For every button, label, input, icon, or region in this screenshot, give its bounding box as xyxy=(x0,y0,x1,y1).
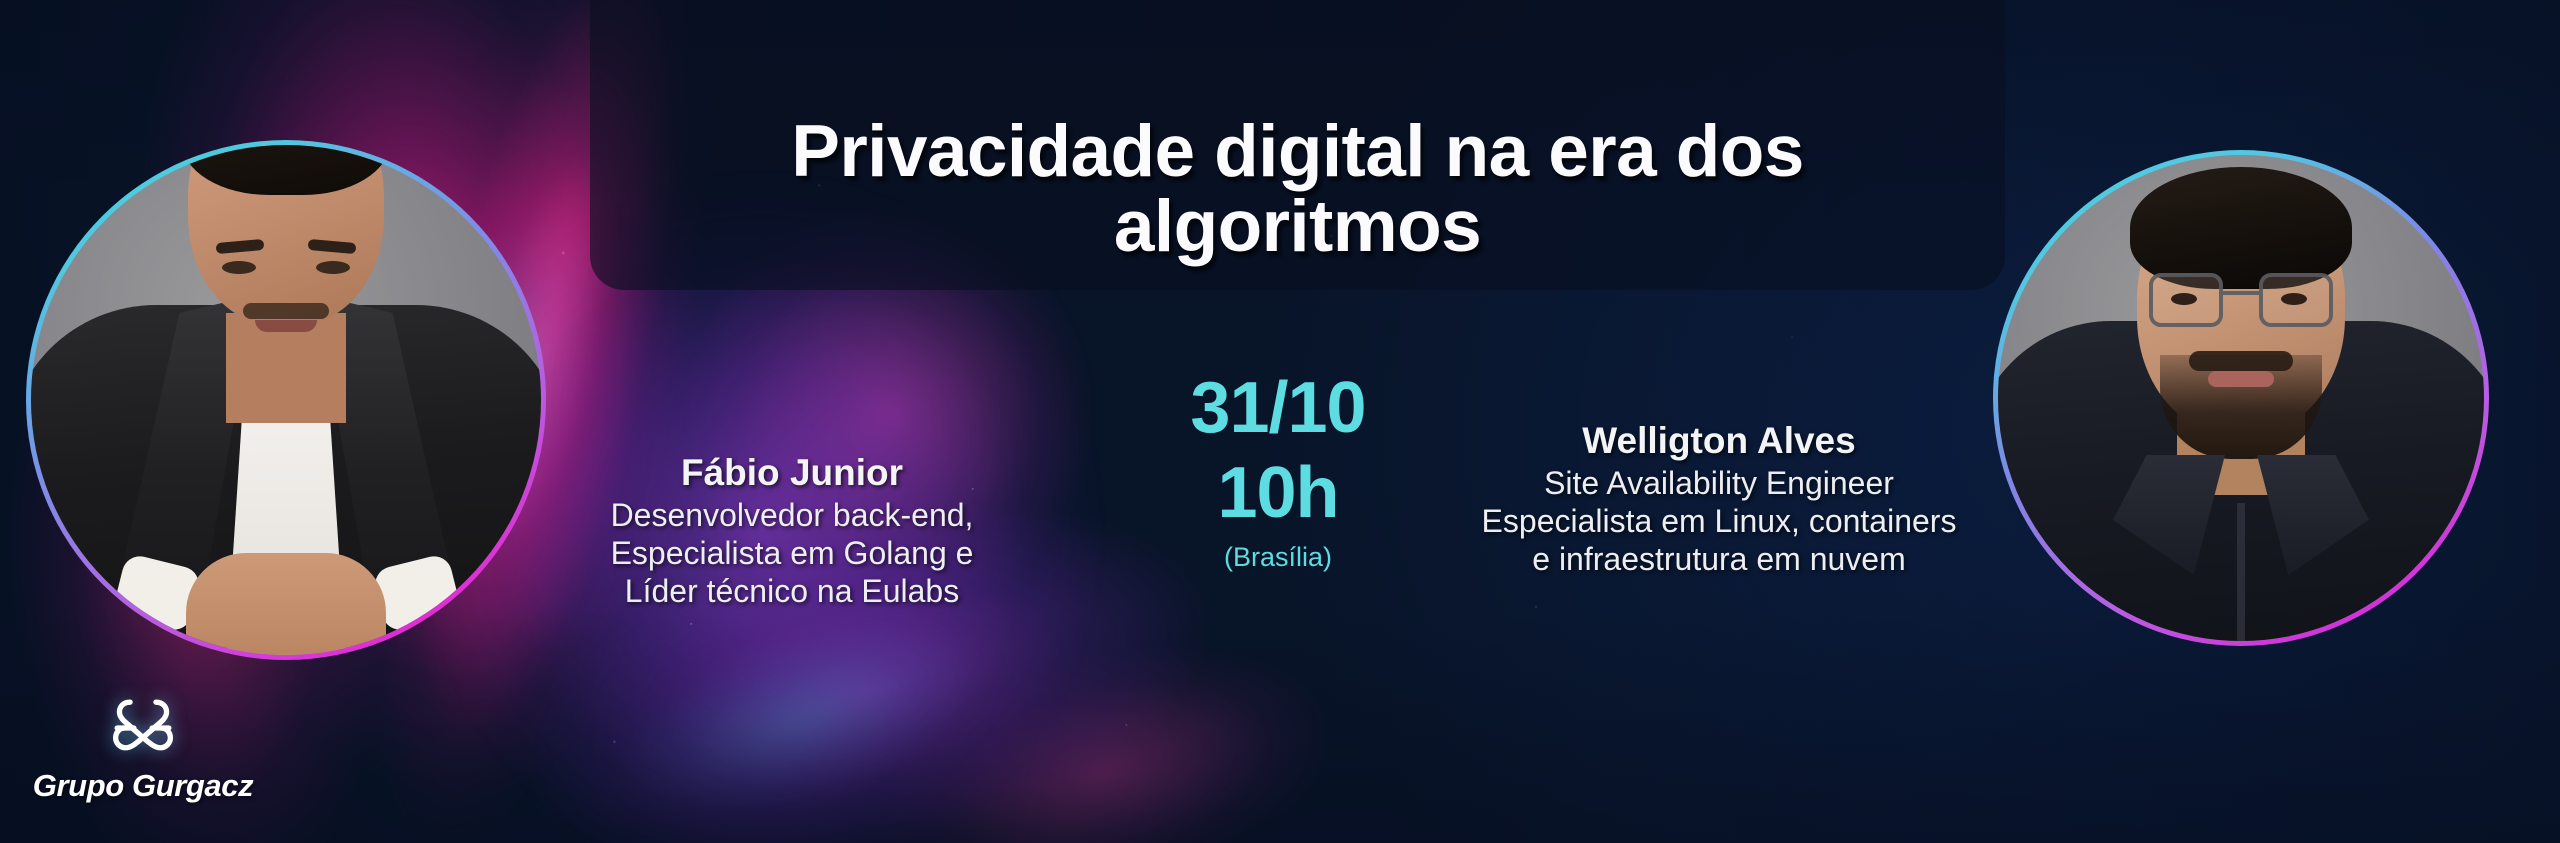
speaker-info-right: Welligton Alves Site Availability Engine… xyxy=(1474,420,1964,579)
portrait-right-eye-right xyxy=(2281,293,2307,305)
portrait-right-mouth xyxy=(2208,371,2274,387)
speaker-role: Site Availability Engineer Especialista … xyxy=(1474,465,1964,578)
portrait-right-eye-left xyxy=(2171,293,2197,305)
avatar xyxy=(31,145,541,655)
speaker-portrait-right xyxy=(1993,150,2489,646)
brand-logo: Grupo Gurgacz xyxy=(28,690,258,804)
brand-name: Grupo Gurgacz xyxy=(28,768,258,804)
portrait-left-eye-right xyxy=(316,261,350,274)
speaker-name: Welligton Alves xyxy=(1474,420,1964,461)
portrait-left-hands xyxy=(186,553,386,655)
speaker-role: Desenvolvedor back-end, Especialista em … xyxy=(572,497,1012,610)
portrait-left-mustache xyxy=(243,303,329,319)
portrait-right-glasses-bridge xyxy=(2223,291,2259,295)
speaker-portrait-left xyxy=(26,140,546,660)
portrait-left-mouth xyxy=(255,320,317,332)
event-date: 31/10 xyxy=(1128,372,1428,445)
portrait-left-eye-left xyxy=(222,261,256,274)
event-banner: Privacidade digital na era dos algoritmo… xyxy=(0,0,2560,843)
speaker-name: Fábio Junior xyxy=(572,452,1012,493)
page-title: Privacidade digital na era dos algoritmo… xyxy=(668,114,1928,264)
avatar xyxy=(1998,155,2484,641)
speaker-info-left: Fábio Junior Desenvolvedor back-end, Esp… xyxy=(572,452,1012,611)
event-time: 10h xyxy=(1128,457,1428,530)
gurgacz-knot-icon xyxy=(105,690,181,766)
title-panel: Privacidade digital na era dos algoritmo… xyxy=(590,0,2005,290)
event-date-block: 31/10 10h (Brasília) xyxy=(1128,372,1428,573)
portrait-right-mustache xyxy=(2189,351,2293,371)
event-timezone: (Brasília) xyxy=(1128,543,1428,573)
portrait-right-hair xyxy=(2130,167,2352,289)
portrait-right-placket xyxy=(2237,503,2245,641)
